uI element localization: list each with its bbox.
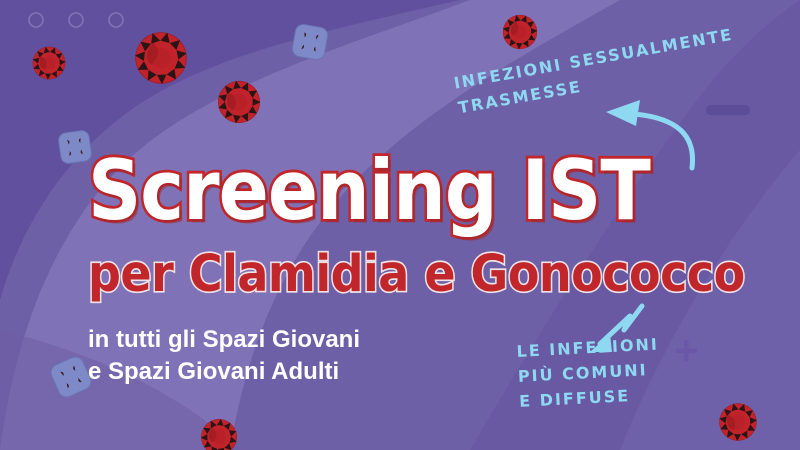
virus-icon <box>24 38 74 88</box>
ring-mark <box>109 13 123 27</box>
bacteria-icon <box>289 21 331 63</box>
zigzag-arrow-icon <box>580 300 660 360</box>
ring-mark <box>69 13 83 27</box>
poster-canvas: + <box>0 0 800 450</box>
virus-icon <box>209 72 270 133</box>
page-subtitle: per Clamidia e Gonococco <box>88 248 748 299</box>
virus-icon <box>194 412 245 450</box>
ring-mark-group <box>24 8 136 34</box>
ring-mark <box>29 13 43 27</box>
dash-mark <box>706 105 750 115</box>
curved-arrow-icon <box>600 92 710 172</box>
